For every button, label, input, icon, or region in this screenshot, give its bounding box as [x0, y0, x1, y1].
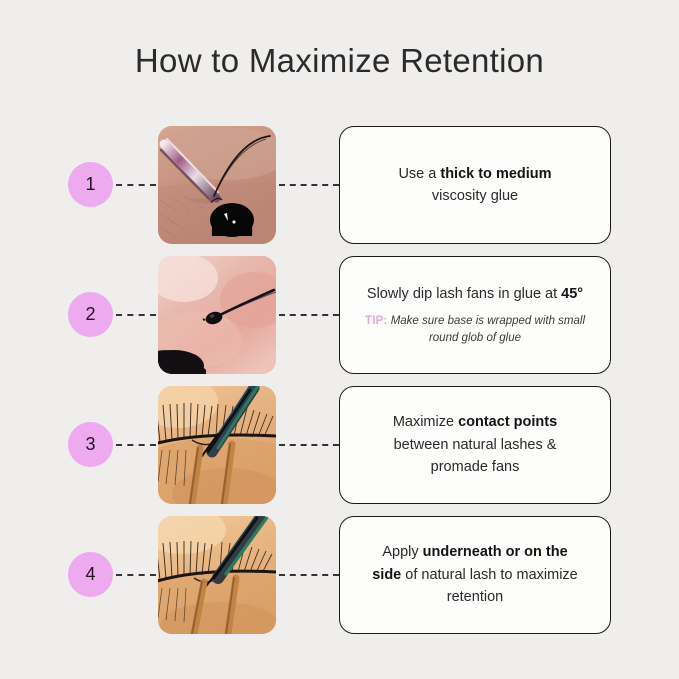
connector-dashed-right-4 [279, 574, 339, 576]
lash-fan-glue-dip-illustration [158, 256, 276, 374]
step-card-text-4: Apply underneath or on the side of natur… [372, 541, 578, 608]
step-photo-1 [158, 126, 276, 244]
step-text-bold-3: contact points [458, 414, 557, 430]
step-text-bold-1: thick to medium [440, 166, 551, 182]
step-text-lead-4: Apply [382, 544, 422, 560]
tip-label-2: TIP: [365, 315, 388, 327]
step-photo-3 [158, 386, 276, 504]
connector-dashed-left-1 [116, 184, 156, 186]
step-card-1: Use a thick to medium viscosity glue [339, 126, 611, 244]
step-card-text-1: Use a thick to medium viscosity glue [398, 163, 551, 208]
step-card-2: Slowly dip lash fans in glue at 45° TIP:… [339, 256, 611, 374]
step-text-line2-4: of natural lash to maximize [401, 567, 578, 583]
step-card-text-3: Maximize contact points between natural … [393, 411, 557, 478]
step-text-lead-3: Maximize [393, 414, 458, 430]
step-text-line3-4: retention [447, 589, 503, 605]
connector-dashed-right-1 [279, 184, 339, 186]
connector-dashed-right-3 [279, 444, 339, 446]
step-number-badge-3: 3 [68, 422, 113, 467]
tip-text-2: Make sure base is wrapped with small rou… [391, 315, 585, 344]
step-row-1: 1 [0, 126, 679, 244]
step-row-2: 2 [0, 256, 679, 374]
step-text-line3-3: promade fans [431, 459, 520, 475]
step-text-lead-2: Slowly dip lash fans in glue at [367, 286, 561, 302]
step-text-line2-bold-4: side [372, 567, 401, 583]
connector-dashed-left-4 [116, 574, 156, 576]
step-text-line2-1: viscosity glue [432, 188, 518, 204]
step-row-3: 3 [0, 386, 679, 504]
lash-glue-drop-illustration [158, 126, 276, 244]
connector-dashed-right-2 [279, 314, 339, 316]
connector-dashed-left-3 [116, 444, 156, 446]
apply-underneath-lash-illustration [158, 516, 276, 634]
page-title: How to Maximize Retention [0, 42, 679, 80]
step-text-bold-4: underneath or on the [423, 544, 568, 560]
infographic-page: How to Maximize Retention 1 [0, 0, 679, 679]
step-text-lead-1: Use a [398, 166, 440, 182]
step-number-badge-1: 1 [68, 162, 113, 207]
step-card-text-2: Slowly dip lash fans in glue at 45° [367, 283, 583, 305]
step-tip-2: TIP: Make sure base is wrapped with smal… [354, 313, 596, 348]
step-card-4: Apply underneath or on the side of natur… [339, 516, 611, 634]
step-text-bold-2: 45° [561, 286, 583, 302]
step-number-badge-2: 2 [68, 292, 113, 337]
step-photo-2 [158, 256, 276, 374]
contact-points-lashes-illustration [158, 386, 276, 504]
step-number-badge-4: 4 [68, 552, 113, 597]
step-card-3: Maximize contact points between natural … [339, 386, 611, 504]
step-photo-4 [158, 516, 276, 634]
connector-dashed-left-2 [116, 314, 156, 316]
step-text-line2-3: between natural lashes & [394, 437, 557, 453]
step-row-4: 4 [0, 516, 679, 634]
